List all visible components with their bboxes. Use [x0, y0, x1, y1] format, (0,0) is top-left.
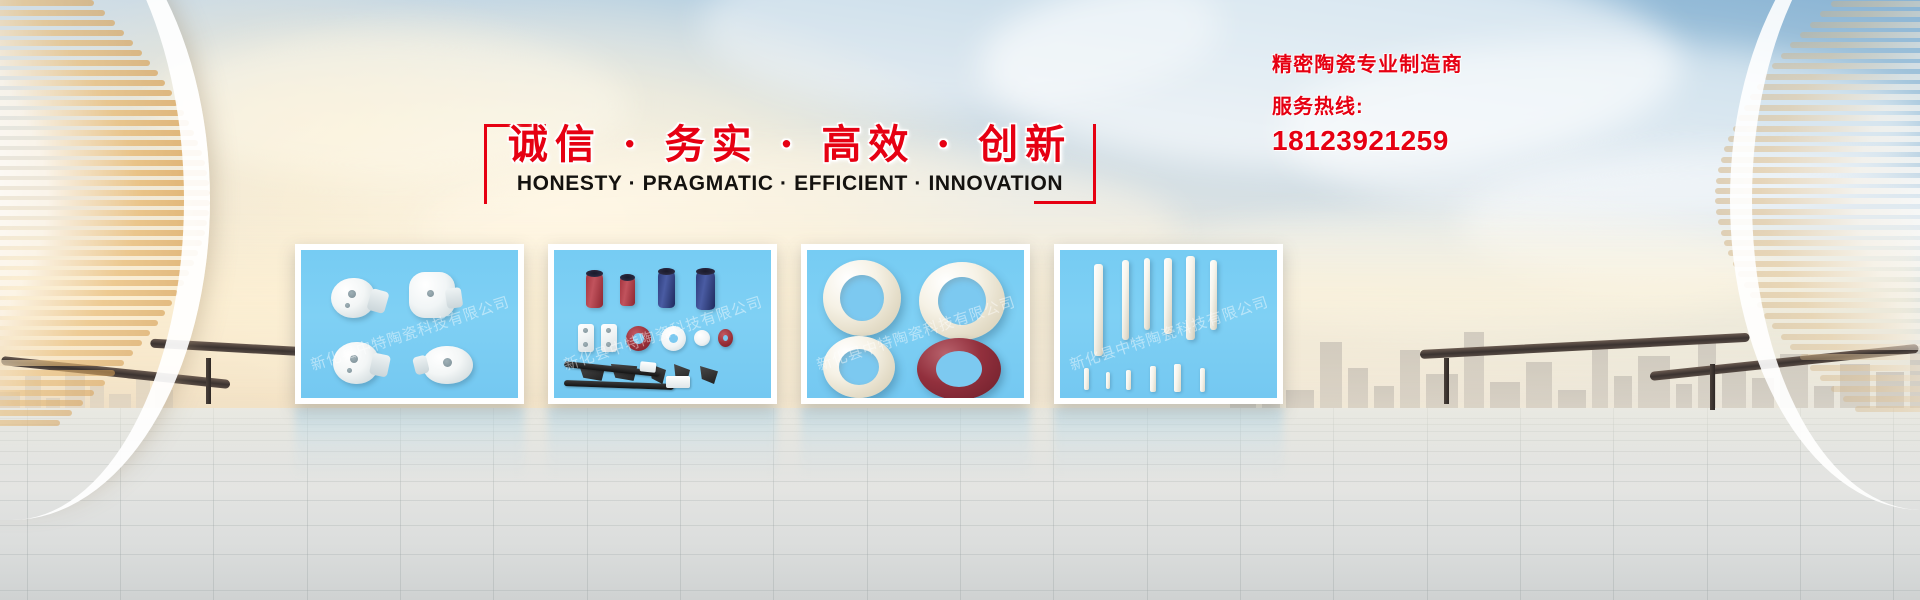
hotline-label: 服务热线: — [1272, 94, 1672, 120]
product-panel-insulator-caps[interactable]: 新化县中特陶瓷科技有限公司 — [295, 244, 524, 404]
slogan-english: HONESTY · PRAGMATIC · EFFICIENT · INNOVA… — [480, 172, 1100, 196]
product-gallery: 新化县中特陶瓷科技有限公司 — [295, 244, 1283, 404]
railing-post — [1444, 358, 1449, 404]
product-panel-ceramic-rods[interactable]: 新化县中特陶瓷科技有限公司 — [1054, 244, 1283, 404]
product-image-ceramic-rods: 新化县中特陶瓷科技有限公司 — [1060, 250, 1277, 398]
product-image-tubes-discs: 新化县中特陶瓷科技有限公司 — [554, 250, 771, 398]
company-tagline: 精密陶瓷专业制造商 — [1272, 52, 1672, 78]
slogan-block: 诚信 · 务实 · 高效 · 创新 HONESTY · PRAGMATIC · … — [480, 110, 1100, 210]
product-panel-tubes-discs[interactable]: 新化县中特陶瓷科技有限公司 — [548, 244, 777, 404]
slogan-chinese: 诚信 · 务实 · 高效 · 创新 — [480, 112, 1100, 170]
product-image-ceramic-rings: 新化县中特陶瓷科技有限公司 — [807, 250, 1024, 398]
product-panel-ceramic-rings[interactable]: 新化县中特陶瓷科技有限公司 — [801, 244, 1030, 404]
hero-banner: 诚信 · 务实 · 高效 · 创新 HONESTY · PRAGMATIC · … — [0, 0, 1920, 600]
contact-block: 精密陶瓷专业制造商 服务热线: 18123921259 — [1272, 52, 1672, 158]
product-image-insulator-caps: 新化县中特陶瓷科技有限公司 — [301, 250, 518, 398]
hotline-phone-number[interactable]: 18123921259 — [1272, 124, 1672, 158]
